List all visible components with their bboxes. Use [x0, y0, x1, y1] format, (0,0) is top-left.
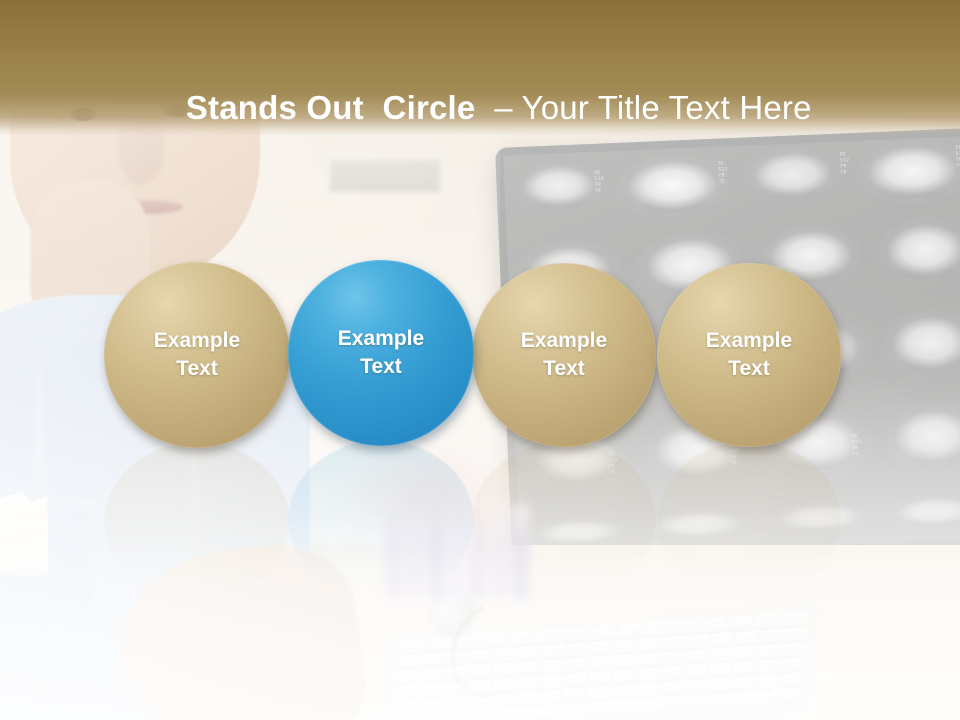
- circle-node-4[interactable]: ExampleText: [657, 263, 841, 447]
- circle-label: ExampleText: [324, 325, 438, 381]
- circle-diagram: ExampleTextExampleTextExampleTextExample…: [0, 0, 960, 720]
- circle-node-1[interactable]: ExampleText: [104, 262, 290, 448]
- circle-label: ExampleText: [692, 327, 806, 383]
- circle-label: ExampleText: [507, 327, 621, 383]
- circle-label: ExampleText: [140, 327, 254, 383]
- slide-canvas: SE 512 TR TESE 512 TR TESE 512 TR TESE 5…: [0, 0, 960, 720]
- circle-node-3[interactable]: ExampleText: [472, 263, 656, 447]
- circle-node-2[interactable]: ExampleText: [288, 260, 474, 446]
- circle-reflection: [288, 440, 474, 600]
- circle-reflection: [657, 441, 841, 599]
- circle-reflection: [104, 442, 290, 602]
- circle-reflection: [472, 441, 656, 599]
